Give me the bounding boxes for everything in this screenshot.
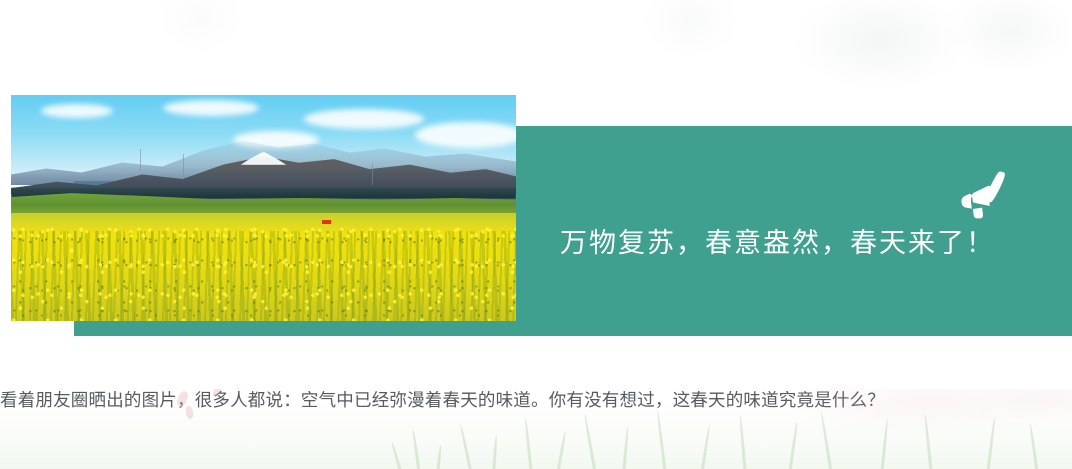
grass-blade [820, 412, 833, 469]
photo-utility-pole [183, 154, 184, 174]
grass-blade [1029, 423, 1039, 469]
grass-blade [459, 424, 473, 469]
grass-blade [986, 417, 996, 469]
cloud-icon [41, 104, 113, 118]
cloud-icon [304, 109, 424, 129]
article-paragraph: 看着朋友圈晒出的图片，很多人都说：空气中已经弥漫着春天的味道。你有没有想过，这春… [0, 386, 1072, 414]
hero-headline: 万物复苏，春意盎然，春天来了！ [560, 230, 995, 257]
grass-blade [524, 417, 533, 469]
photo-red-marker [322, 220, 331, 224]
grass-blade [656, 409, 667, 469]
grass-blade [924, 413, 933, 469]
grass-blade [739, 415, 747, 469]
grass-blade [880, 419, 889, 469]
grass-blade [622, 427, 629, 469]
grass-blade [492, 435, 498, 469]
hero-section: 万物复苏，春意盎然，春天来了！ [0, 0, 1072, 345]
grass-blade [436, 445, 442, 469]
grass-blade [583, 414, 597, 469]
cloud-icon [163, 100, 259, 116]
grass-blade [788, 421, 798, 469]
grass-blade [412, 429, 421, 469]
megaphone-icon [955, 168, 1013, 220]
grass-blade [391, 442, 403, 469]
photo-field-texture [11, 226, 516, 321]
grass-blade [556, 431, 567, 469]
hero-photo [11, 95, 516, 321]
grass-blade [700, 425, 711, 469]
photo-utility-pole [140, 149, 141, 171]
photo-utility-pole [372, 163, 373, 185]
